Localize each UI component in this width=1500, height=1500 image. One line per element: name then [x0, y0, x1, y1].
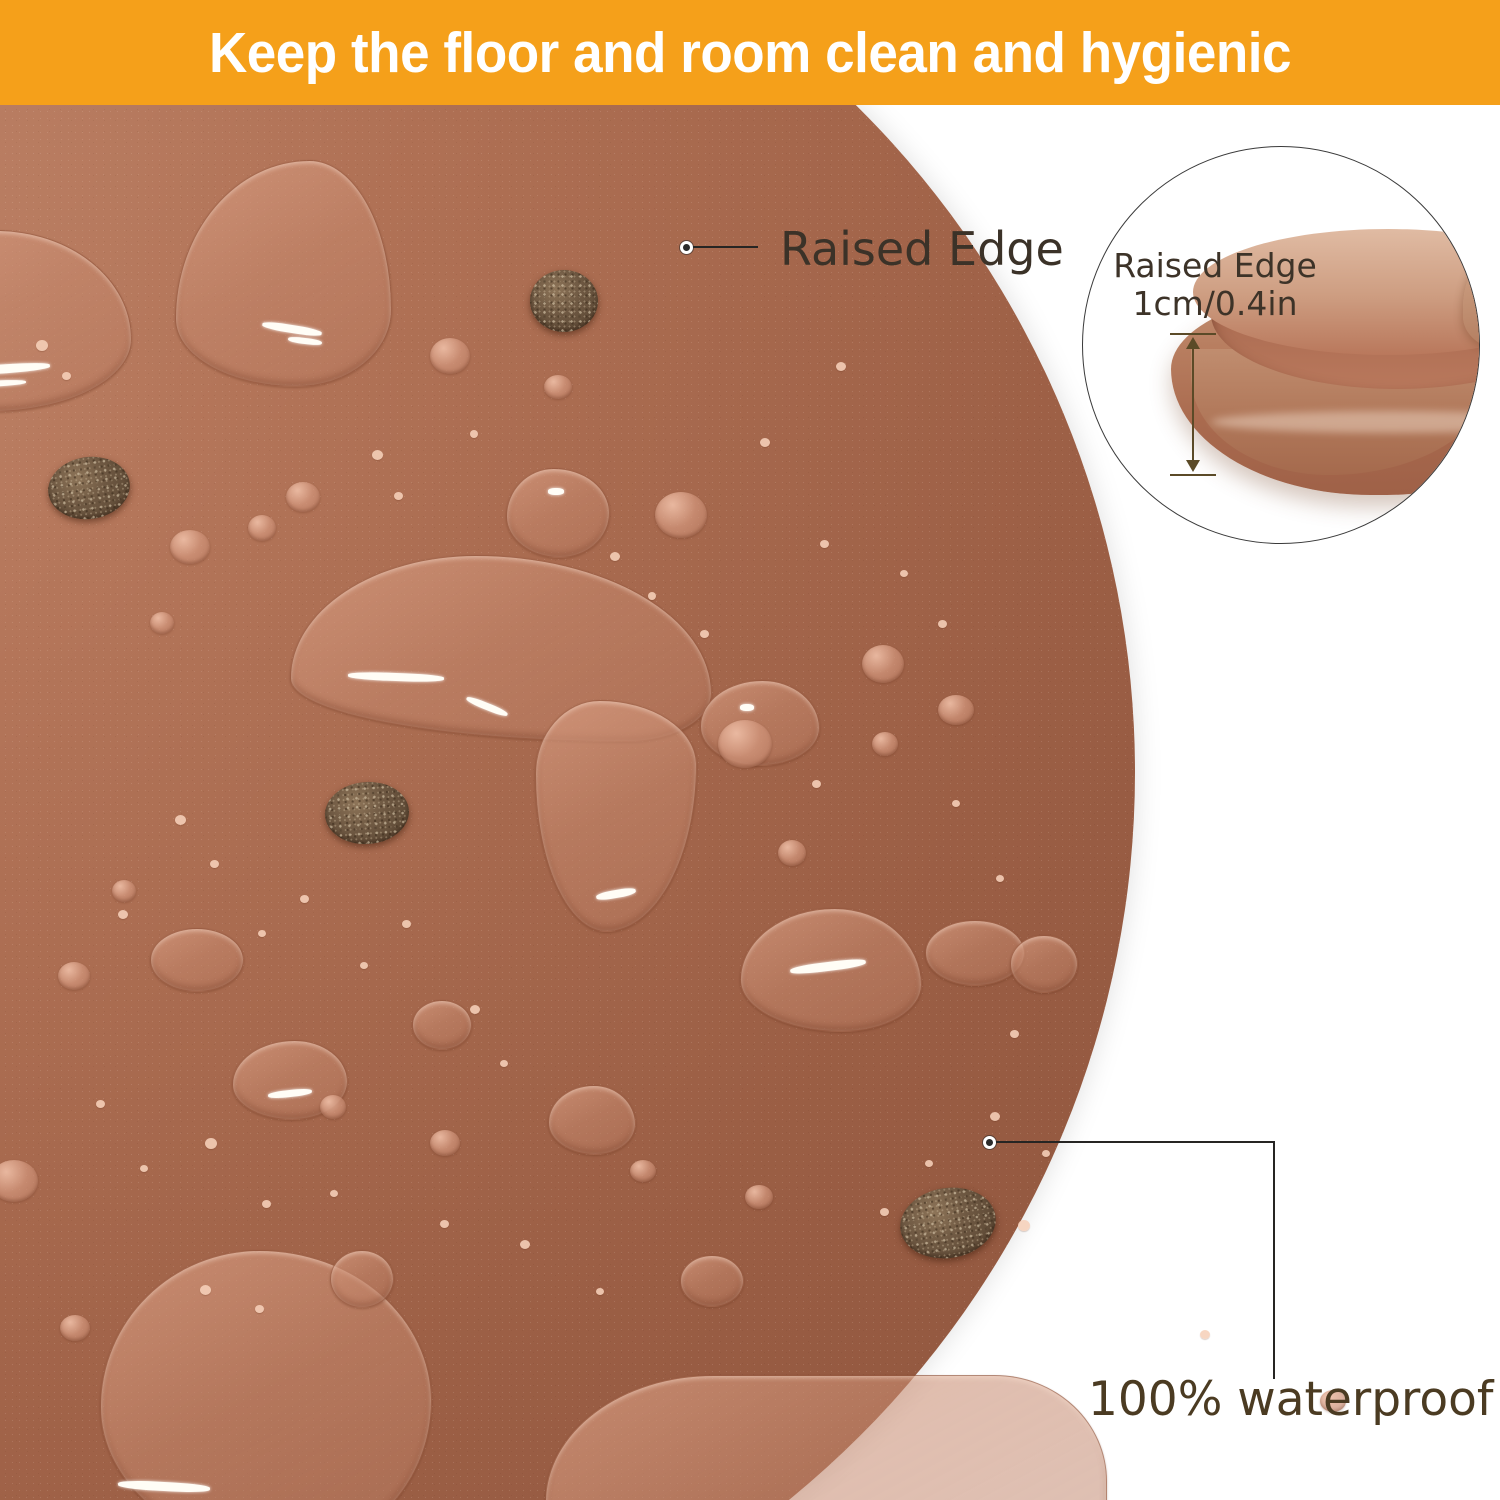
- dimension-tick-bottom: [1170, 474, 1216, 476]
- water-droplet: [170, 530, 210, 564]
- water-speck: [952, 800, 960, 807]
- water-droplet: [630, 1160, 656, 1182]
- water-droplet: [544, 375, 572, 399]
- water-droplet: [430, 338, 470, 374]
- water-droplet: [286, 482, 320, 512]
- raised-edge-detail-inset: Raised Edge 1cm/0.4in: [1082, 146, 1480, 544]
- water-droplet: [718, 720, 772, 768]
- kibble-piece: [44, 452, 134, 525]
- water-speck: [500, 1060, 508, 1067]
- water-speck: [402, 920, 411, 928]
- water-puddle: [330, 1250, 394, 1308]
- waterproof-label: 100% waterproof: [1088, 1372, 1493, 1427]
- inset-measurement: 1cm/0.4in: [1105, 285, 1325, 323]
- water-puddle: [925, 920, 1025, 986]
- water-puddle: [506, 468, 610, 558]
- water-speck: [200, 1285, 211, 1295]
- water-speck: [1010, 1030, 1019, 1038]
- water-droplet: [58, 962, 90, 990]
- water-droplet: [112, 880, 136, 902]
- water-speck: [700, 630, 709, 638]
- inset-caption: Raised Edge 1cm/0.4in: [1105, 247, 1325, 324]
- dimension-arrow: [1191, 333, 1195, 476]
- water-speck: [300, 895, 309, 903]
- water-speck: [880, 1208, 889, 1216]
- water-puddle: [150, 928, 244, 992]
- water-speck: [996, 875, 1004, 882]
- kibble-piece: [895, 1181, 1001, 1265]
- water-droplet: [60, 1315, 90, 1341]
- water-speck: [255, 1305, 264, 1313]
- water-speck: [938, 620, 947, 628]
- water-speck: [258, 930, 266, 937]
- water-speck: [812, 780, 821, 788]
- water-droplet: [872, 732, 898, 756]
- water-droplet: [430, 1130, 460, 1156]
- waterproof-marker-dot: [983, 1136, 996, 1149]
- raised-edge-marker-dot: [680, 241, 693, 254]
- water-droplet: [320, 1095, 346, 1119]
- water-droplet: [248, 515, 276, 541]
- water-puddle: [680, 1255, 744, 1307]
- water-speck: [205, 1138, 217, 1149]
- water-speck: [262, 1200, 271, 1208]
- water-speck: [175, 815, 186, 825]
- inset-title: Raised Edge: [1105, 247, 1325, 285]
- water-puddle: [545, 1375, 1107, 1500]
- water-speck: [900, 570, 908, 577]
- water-speck: [1200, 1330, 1210, 1339]
- water-highlight: [548, 488, 564, 495]
- water-puddle: [1010, 935, 1078, 993]
- water-droplet: [745, 1185, 773, 1209]
- waterproof-leader-horizontal: [995, 1141, 1275, 1143]
- water-speck: [760, 438, 770, 447]
- water-speck: [1018, 1220, 1030, 1231]
- water-speck: [596, 1288, 604, 1295]
- kibble-piece: [323, 779, 411, 847]
- water-speck: [372, 450, 383, 460]
- water-speck: [1042, 1150, 1050, 1157]
- water-puddle: [548, 1085, 636, 1155]
- water-speck: [118, 910, 128, 919]
- raised-edge-leader-line: [692, 246, 758, 248]
- water-speck: [610, 552, 620, 561]
- water-speck: [990, 1112, 1000, 1121]
- water-speck: [96, 1100, 105, 1108]
- dimension-line: [1192, 341, 1194, 468]
- waterproof-leader-vertical: [1273, 1141, 1275, 1379]
- water-speck: [470, 430, 478, 438]
- water-droplet: [862, 645, 904, 683]
- dimension-arrowhead-bottom: [1186, 460, 1200, 472]
- water-speck: [820, 540, 829, 548]
- water-droplet: [938, 695, 974, 725]
- header-banner-text: Keep the floor and room clean and hygien…: [53, 0, 1448, 105]
- water-speck: [36, 340, 48, 351]
- water-speck: [210, 860, 219, 868]
- water-speck: [836, 362, 846, 371]
- dimension-arrowhead-top: [1186, 337, 1200, 349]
- water-droplet: [778, 840, 806, 866]
- water-droplet: [655, 492, 707, 538]
- water-speck: [330, 1190, 338, 1197]
- water-speck: [62, 372, 71, 380]
- water-puddle: [412, 1000, 472, 1050]
- water-speck: [520, 1240, 530, 1249]
- water-speck: [394, 492, 403, 500]
- kibble-piece: [530, 270, 598, 332]
- header-banner: Keep the floor and room clean and hygien…: [0, 0, 1500, 105]
- water-speck: [140, 1165, 148, 1172]
- water-speck: [470, 1005, 480, 1014]
- product-marketing-image: Raised Edge 100% waterproof Raised Edge …: [0, 0, 1500, 1500]
- water-speck: [648, 592, 656, 600]
- water-droplet: [150, 612, 174, 634]
- water-speck: [925, 1160, 933, 1167]
- dimension-tick-top: [1170, 333, 1216, 335]
- water-highlight: [740, 704, 754, 711]
- water-speck: [360, 962, 368, 969]
- raised-edge-label: Raised Edge: [780, 222, 1064, 276]
- water-speck: [440, 1220, 449, 1228]
